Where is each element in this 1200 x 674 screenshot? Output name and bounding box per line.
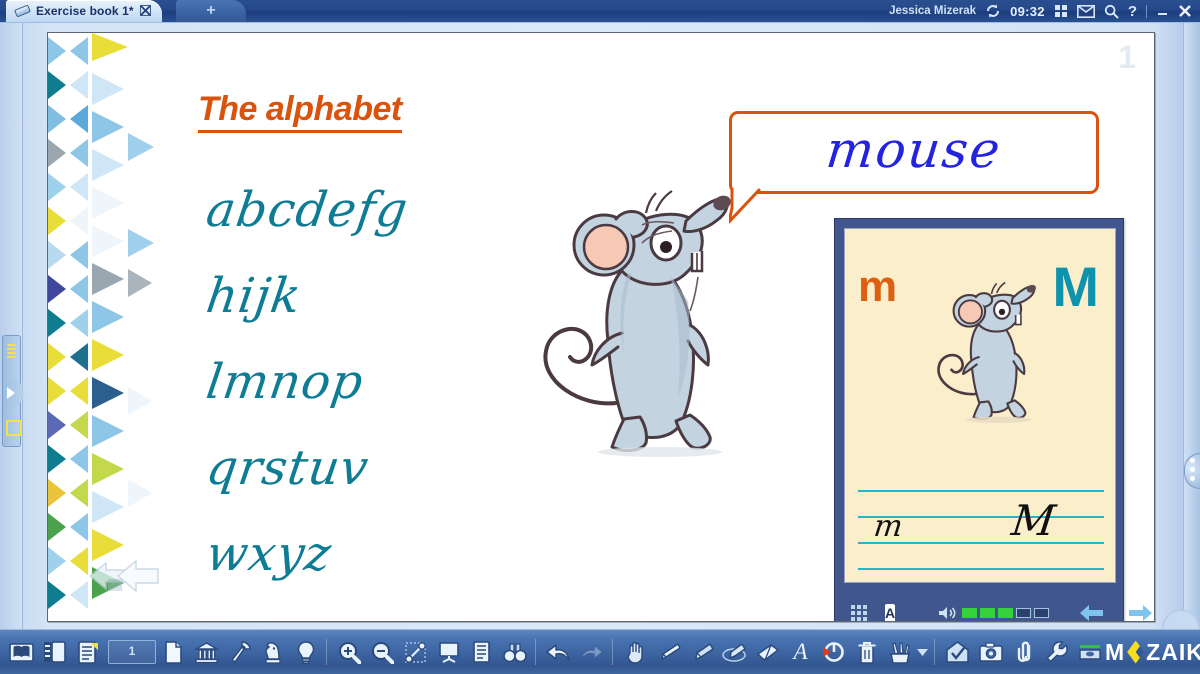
tab-label: Exercise book 1* [36, 4, 134, 18]
flashcard-ruled-lines: m M [858, 490, 1104, 572]
flashcard-cursive-uppercase: M [1009, 500, 1057, 542]
notebook-icon[interactable] [39, 636, 70, 668]
application-window: Exercise book 1* + Jessica Mizerak [0, 0, 1200, 674]
blank-page-icon[interactable] [158, 636, 189, 668]
left-rail-panel[interactable] [2, 335, 21, 447]
left-rail [0, 23, 23, 631]
logo-text-left: M [1105, 639, 1125, 666]
toolbar-divider [326, 639, 327, 665]
decorative-mosaic-strip [48, 33, 154, 621]
hand-icon[interactable] [620, 636, 651, 668]
mail-icon[interactable] [1077, 5, 1095, 18]
zoom-in-icon[interactable] [334, 636, 365, 668]
flashcard-page: m M [844, 228, 1116, 583]
redo-icon[interactable] [576, 636, 607, 668]
play-arrow-icon[interactable] [3, 380, 25, 406]
flashcard-uppercase-letter: M [1052, 259, 1099, 315]
lightbulb-icon[interactable] [290, 636, 321, 668]
node-select-icon[interactable] [400, 636, 431, 668]
toolbar-divider [934, 639, 935, 665]
alphabet-line: hijk [200, 259, 542, 345]
zoom-out-icon[interactable] [367, 636, 398, 668]
hammer-icon[interactable] [224, 636, 255, 668]
alphabet-line: qrstuv [200, 431, 542, 517]
page-number-field[interactable]: 1 [108, 640, 156, 664]
flashcard-panel[interactable]: m M [834, 218, 1124, 622]
tab-close-icon[interactable] [140, 5, 152, 17]
history-icon[interactable] [6, 420, 22, 436]
chevron-down-icon[interactable] [915, 636, 929, 668]
trash-icon[interactable] [851, 636, 882, 668]
grid-icon[interactable] [851, 605, 867, 621]
alphabet-line: lmnop [200, 345, 542, 431]
help-icon[interactable]: ? [1128, 3, 1137, 20]
page-title: The alphabet [198, 90, 402, 133]
paperclip-icon[interactable] [1008, 636, 1039, 668]
chess-knight-icon[interactable] [257, 636, 288, 668]
mosaic-triangles [48, 33, 154, 621]
pen-cup-icon[interactable] [884, 636, 915, 668]
logo-diamond-icon [1127, 641, 1144, 664]
speech-bubble-tail [729, 188, 781, 222]
tray-icon[interactable] [1074, 636, 1105, 668]
user-name: Jessica Mizerak [889, 5, 976, 17]
open-book-icon[interactable] [6, 636, 37, 668]
page-canvas[interactable]: 1 [47, 32, 1155, 622]
tab-exercise-book-1[interactable]: Exercise book 1* [6, 0, 162, 22]
undo-icon[interactable] [543, 636, 574, 668]
presentation-icon[interactable] [433, 636, 464, 668]
titlebar-right-group: Jessica Mizerak 09:32 [889, 0, 1192, 22]
arrow-right-icon[interactable] [1127, 604, 1153, 622]
wrench-icon[interactable] [1041, 636, 1072, 668]
mouse-illustration [520, 175, 736, 460]
speech-bubble: mouse [729, 111, 1099, 194]
right-rail-handle[interactable] [1184, 453, 1200, 489]
bottom-toolbar: 1 [0, 629, 1200, 674]
text-tool-label: A [793, 639, 807, 665]
minimize-icon[interactable] [1156, 5, 1169, 18]
text-tool-icon[interactable]: A [785, 636, 816, 668]
mozaik-logo: M ZAIK [1105, 639, 1200, 666]
pen-icon [14, 4, 30, 18]
pen-icon[interactable] [653, 636, 684, 668]
museum-icon[interactable] [191, 636, 222, 668]
flashcard-lowercase-letter: m [858, 265, 897, 309]
document-list-icon[interactable] [466, 636, 497, 668]
toolbar-divider [535, 639, 536, 665]
bookmark-page-icon[interactable] [72, 636, 103, 668]
close-glyph [140, 5, 151, 16]
page-number-watermark: 1 [1118, 39, 1136, 76]
highlighter-icon[interactable] [719, 636, 750, 668]
volume-level-indicator[interactable] [962, 608, 1049, 618]
alphabet-line: abcdefg [200, 173, 542, 259]
check-home-icon[interactable] [942, 636, 973, 668]
alphabet-list: abcdefg hijk lmnop qrstuv wxyz [206, 173, 536, 603]
workspace: 1 [0, 22, 1200, 631]
sync-icon[interactable] [985, 3, 1001, 19]
search-icon[interactable] [1104, 4, 1119, 19]
close-icon[interactable] [1178, 4, 1192, 18]
flashcard-cursive-lowercase: m [872, 512, 904, 542]
title-bar: Exercise book 1* + Jessica Mizerak [0, 0, 1200, 23]
right-rail [1183, 23, 1200, 631]
speaker-icon[interactable] [937, 605, 955, 621]
page-navigation-arrows[interactable] [88, 553, 168, 599]
alphabet-line: wxyz [200, 517, 542, 603]
eraser-icon[interactable] [752, 636, 783, 668]
list-icon [7, 344, 16, 360]
speech-bubble-word: mouse [728, 114, 1100, 186]
new-tab-button[interactable]: + [176, 0, 246, 22]
logo-text-right: ZAIK [1146, 639, 1200, 666]
divider [1146, 5, 1147, 18]
marker-icon[interactable] [686, 636, 717, 668]
clock: 09:32 [1010, 4, 1045, 19]
binoculars-icon[interactable] [499, 636, 530, 668]
flashcard-mouse-illustration [917, 274, 1047, 424]
reset-icon[interactable] [818, 636, 849, 668]
apps-grid-icon[interactable] [1054, 4, 1068, 18]
camera-icon[interactable] [975, 636, 1006, 668]
flashcard-controls: A [835, 590, 1125, 622]
toolbar-divider [612, 639, 613, 665]
text-mode-button[interactable]: A [885, 604, 895, 623]
new-tab-label: + [206, 2, 215, 19]
arrow-left-icon[interactable] [1079, 604, 1105, 622]
